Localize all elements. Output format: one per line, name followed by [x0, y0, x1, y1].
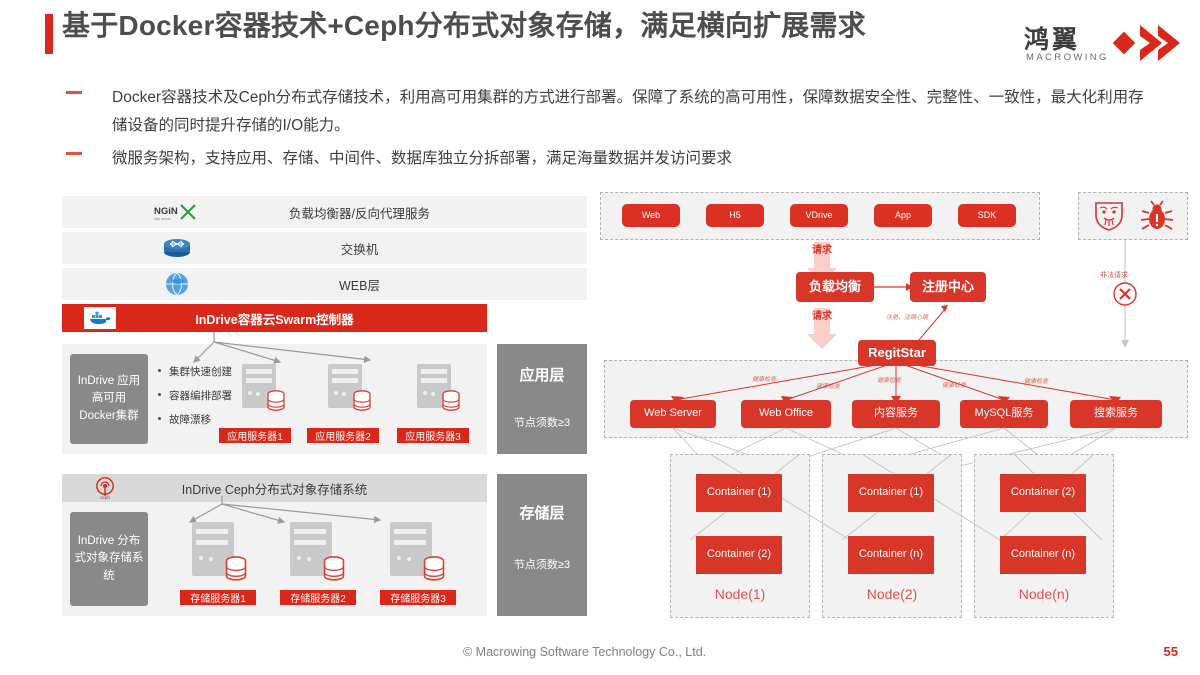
- app-server-tag: 应用服务器3: [397, 428, 469, 443]
- bullet-item: 微服务架构，支持应用、存储、中间件、数据库独立分拆部署，满足海量数据并发访问要求: [66, 145, 1156, 173]
- app-server-icon: [326, 364, 372, 412]
- illegal-request-label: 非法请求: [1100, 270, 1128, 280]
- node-label-1: Node(1): [670, 586, 810, 602]
- request-label-top: 请求: [807, 246, 837, 257]
- logo-chevron-icon: [1114, 22, 1182, 64]
- client-app[interactable]: App: [874, 204, 932, 227]
- layer-row-label: WEB层: [62, 268, 587, 300]
- storage-server-icon: [288, 522, 346, 582]
- title-accent-bar: [45, 14, 53, 54]
- layer-row-switch: 交换机: [62, 232, 587, 264]
- copyright-footer: © Macrowing Software Technology Co., Ltd…: [463, 645, 706, 659]
- storage-server-icon: [388, 522, 446, 582]
- noden-container-2[interactable]: Container (2): [1000, 474, 1086, 512]
- logo-english-name: MACROWING: [1026, 52, 1109, 63]
- regit-star-box[interactable]: RegitStar: [858, 340, 936, 366]
- app-feature-item: 集群快速创建: [158, 364, 232, 379]
- brand-logo: 鸿翼 MACROWING: [1002, 18, 1182, 74]
- app-server-icon: [415, 364, 461, 412]
- storage-layer-node-requirement: 节点须数≥3: [514, 556, 570, 572]
- swarm-controller-bar: InDrive容器云Swarm控制器: [62, 304, 487, 332]
- layer-row-web: WEB层: [62, 268, 587, 300]
- app-feature-list: 集群快速创建 容器编排部署 故障漂移: [158, 364, 232, 436]
- client-vdrive[interactable]: VDrive: [790, 204, 848, 227]
- load-balancer-box[interactable]: 负载均衡: [796, 272, 874, 302]
- app-cluster-block: InDrive 应用高可用Docker集群: [70, 354, 148, 444]
- bug-icon: [1140, 200, 1174, 232]
- app-feature-item: 容器编排部署: [158, 388, 232, 403]
- bullet-dash-icon: [66, 152, 82, 155]
- app-layer-side-panel: 应用层 节点须数≥3: [497, 344, 587, 454]
- left-architecture-diagram: NGiN http server 负载均衡器/反向代理服务 交换机: [62, 196, 587, 621]
- layer-row-label: 交换机: [62, 232, 587, 264]
- layer-row-label: 负载均衡器/反向代理服务: [62, 196, 587, 228]
- slide: 基于Docker容器技术+Ceph分布式对象存储，满足横向扩展需求 鸿翼 MAC…: [0, 0, 1200, 675]
- registry-center-box[interactable]: 注册中心: [910, 272, 986, 302]
- node2-container-1[interactable]: Container (1): [848, 474, 934, 512]
- storage-layer-title: 存储层: [519, 502, 564, 523]
- layer-row-load-balancer: NGiN http server 负载均衡器/反向代理服务: [62, 196, 587, 228]
- storage-server-icon: [190, 522, 248, 582]
- storage-server-tag: 存储服务器1: [180, 590, 256, 605]
- storage-cluster-block: InDrive 分布式对象存储系统: [70, 512, 148, 606]
- storage-layer-side-panel: 存储层 节点须数≥3: [497, 474, 587, 616]
- bullet-text: 微服务架构，支持应用、存储、中间件、数据库独立分拆部署，满足海量数据并发访问要求: [112, 150, 732, 167]
- client-web[interactable]: Web: [622, 204, 680, 227]
- bullet-text: Docker容器技术及Ceph分布式存储技术，利用高可用集群的方式进行部署。保障…: [112, 89, 1144, 134]
- health-check-edges: [600, 364, 1188, 410]
- right-microservice-diagram: Web H5 VDrive App SDK 请求 请求: [600, 192, 1192, 622]
- bullet-dash-icon: [66, 91, 82, 94]
- noden-container-n[interactable]: Container (n): [1000, 536, 1086, 574]
- node-label-n: Node(n): [974, 586, 1114, 602]
- swarm-controller-label: InDrive容器云Swarm控制器: [62, 304, 487, 332]
- node-label-2: Node(2): [822, 586, 962, 602]
- registry-edge-label: 注册、注销心跳: [886, 312, 928, 321]
- page-title: 基于Docker容器技术+Ceph分布式对象存储，满足横向扩展需求: [62, 8, 942, 44]
- app-layer-node-requirement: 节点须数≥3: [514, 414, 570, 430]
- request-label-bottom: 请求: [807, 312, 837, 323]
- page-number: 55: [1164, 644, 1178, 659]
- bullet-item: Docker容器技术及Ceph分布式存储技术，利用高可用集群的方式进行部署。保障…: [66, 84, 1156, 139]
- node1-container-2[interactable]: Container (2): [696, 536, 782, 574]
- logo-chinese-name: 鸿翼: [1024, 20, 1080, 56]
- app-layer-title: 应用层: [519, 364, 564, 385]
- client-sdk[interactable]: SDK: [958, 204, 1016, 227]
- app-server-icon: [240, 364, 286, 412]
- storage-server-tag: 存储服务器2: [280, 590, 356, 605]
- illegal-request-path: [1105, 240, 1145, 350]
- bullet-list: Docker容器技术及Ceph分布式存储技术，利用高可用集群的方式进行部署。保障…: [66, 84, 1156, 179]
- node1-container-1[interactable]: Container (1): [696, 474, 782, 512]
- storage-server-tag: 存储服务器3: [380, 590, 456, 605]
- node2-container-n[interactable]: Container (n): [848, 536, 934, 574]
- app-server-tag: 应用服务器1: [219, 428, 291, 443]
- app-server-tag: 应用服务器2: [307, 428, 379, 443]
- hacker-mask-icon: [1092, 200, 1126, 232]
- client-h5[interactable]: H5: [706, 204, 764, 227]
- app-feature-item: 故障漂移: [158, 412, 232, 427]
